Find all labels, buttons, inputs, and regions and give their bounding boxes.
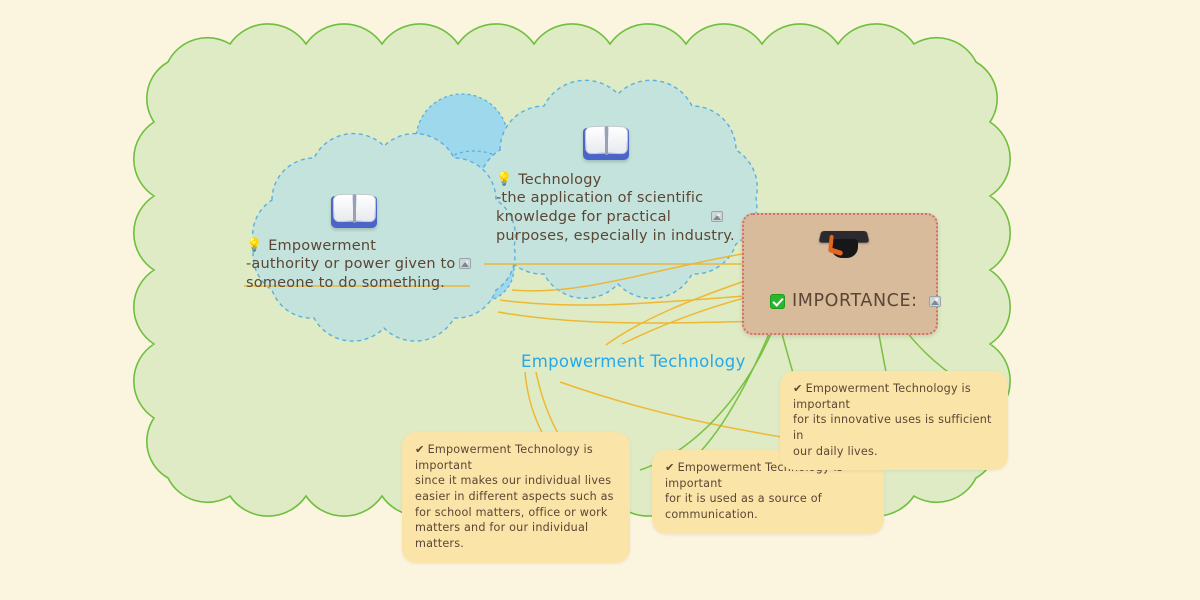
importance-label: IMPORTANCE: <box>792 291 918 311</box>
note-text: Empowerment Technology is important <box>793 382 971 411</box>
note-card-innovative-uses[interactable]: ✔Empowerment Technology is important for… <box>780 371 1008 470</box>
note-line: ✔Empowerment Technology is important <box>793 381 994 412</box>
technology-title-row: 💡 Technology <box>496 172 806 188</box>
note-line: our daily lives. <box>793 444 994 460</box>
green-check-icon[interactable] <box>770 294 785 309</box>
lightbulb-icon: 💡 <box>246 239 262 252</box>
note-line: easier in different aspects such as <box>415 489 616 505</box>
note-line: for school matters, office or work <box>415 505 616 521</box>
note-line: for its innovative uses is sufficient in <box>793 412 994 443</box>
note-line: communication. <box>665 507 870 523</box>
importance-node[interactable]: IMPORTANCE: <box>742 213 938 335</box>
note-line: ✔Empowerment Technology is important <box>415 442 616 473</box>
mindmap-nodes: 💡 Empowerment -authority or power given … <box>0 0 1200 600</box>
note-line: since it makes our individual lives <box>415 473 616 489</box>
check-mark-icon: ✔ <box>415 443 425 456</box>
technology-body-line-3: purposes, especially in industry. <box>496 228 735 244</box>
open-book-icon-technology <box>583 126 629 160</box>
technology-title: Technology <box>518 172 601 188</box>
graduation-cap-icon <box>821 228 867 264</box>
technology-body-line-1: -the application of scientific <box>496 190 703 206</box>
check-mark-icon: ✔ <box>793 382 803 395</box>
empowerment-body: -authority or power given to someone to … <box>246 255 546 293</box>
open-book-icon-empowerment <box>331 194 377 228</box>
note-line: matters. <box>415 536 616 552</box>
importance-label-row: IMPORTANCE: <box>770 291 941 311</box>
empowerment-body-line-1: -authority or power given to <box>246 256 455 272</box>
image-placeholder-icon[interactable] <box>459 258 471 269</box>
technology-body-line-2: knowledge for practical <box>496 209 671 225</box>
lightbulb-icon: 💡 <box>496 173 512 186</box>
image-placeholder-icon[interactable] <box>711 211 723 222</box>
note-line: for it is used as a source of <box>665 491 870 507</box>
empowerment-title: Empowerment <box>268 238 376 254</box>
mindmap-canvas: 💡 Empowerment -authority or power given … <box>0 0 1200 600</box>
empowerment-body-line-2: someone to do something. <box>246 275 445 291</box>
page-title[interactable]: Empowerment Technology <box>521 352 746 371</box>
check-mark-icon: ✔ <box>665 461 675 474</box>
note-line: matters and for our individual <box>415 520 616 536</box>
note-card-school-matters[interactable]: ✔Empowerment Technology is important sin… <box>402 432 630 563</box>
note-text: Empowerment Technology is important <box>415 443 593 472</box>
image-placeholder-icon[interactable] <box>929 296 941 307</box>
